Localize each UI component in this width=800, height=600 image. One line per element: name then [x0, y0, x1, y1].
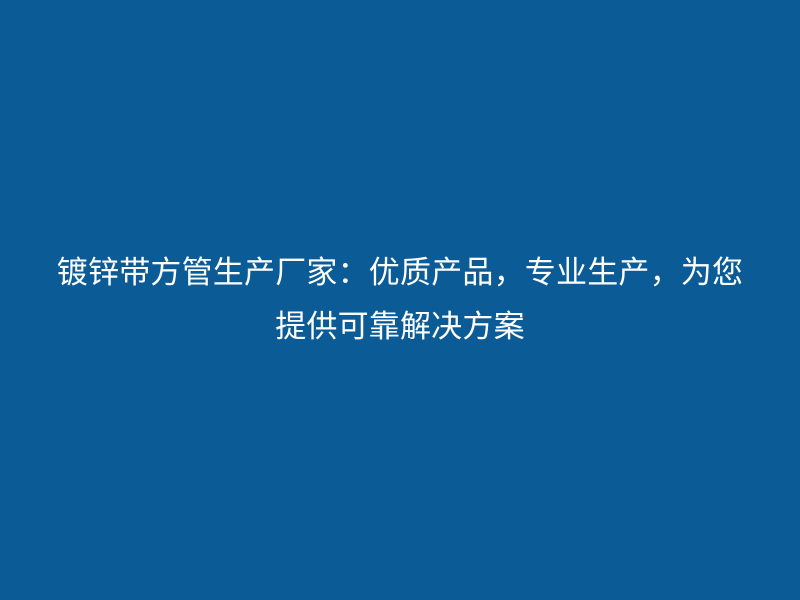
headline-line-2: 提供可靠解决方案: [40, 300, 760, 354]
banner-canvas: 镀锌带方管生产厂家：优质产品，专业生产，为您 提供可靠解决方案: [0, 0, 800, 600]
headline-line-1: 镀锌带方管生产厂家：优质产品，专业生产，为您: [40, 246, 760, 300]
headline-block: 镀锌带方管生产厂家：优质产品，专业生产，为您 提供可靠解决方案: [0, 0, 800, 600]
